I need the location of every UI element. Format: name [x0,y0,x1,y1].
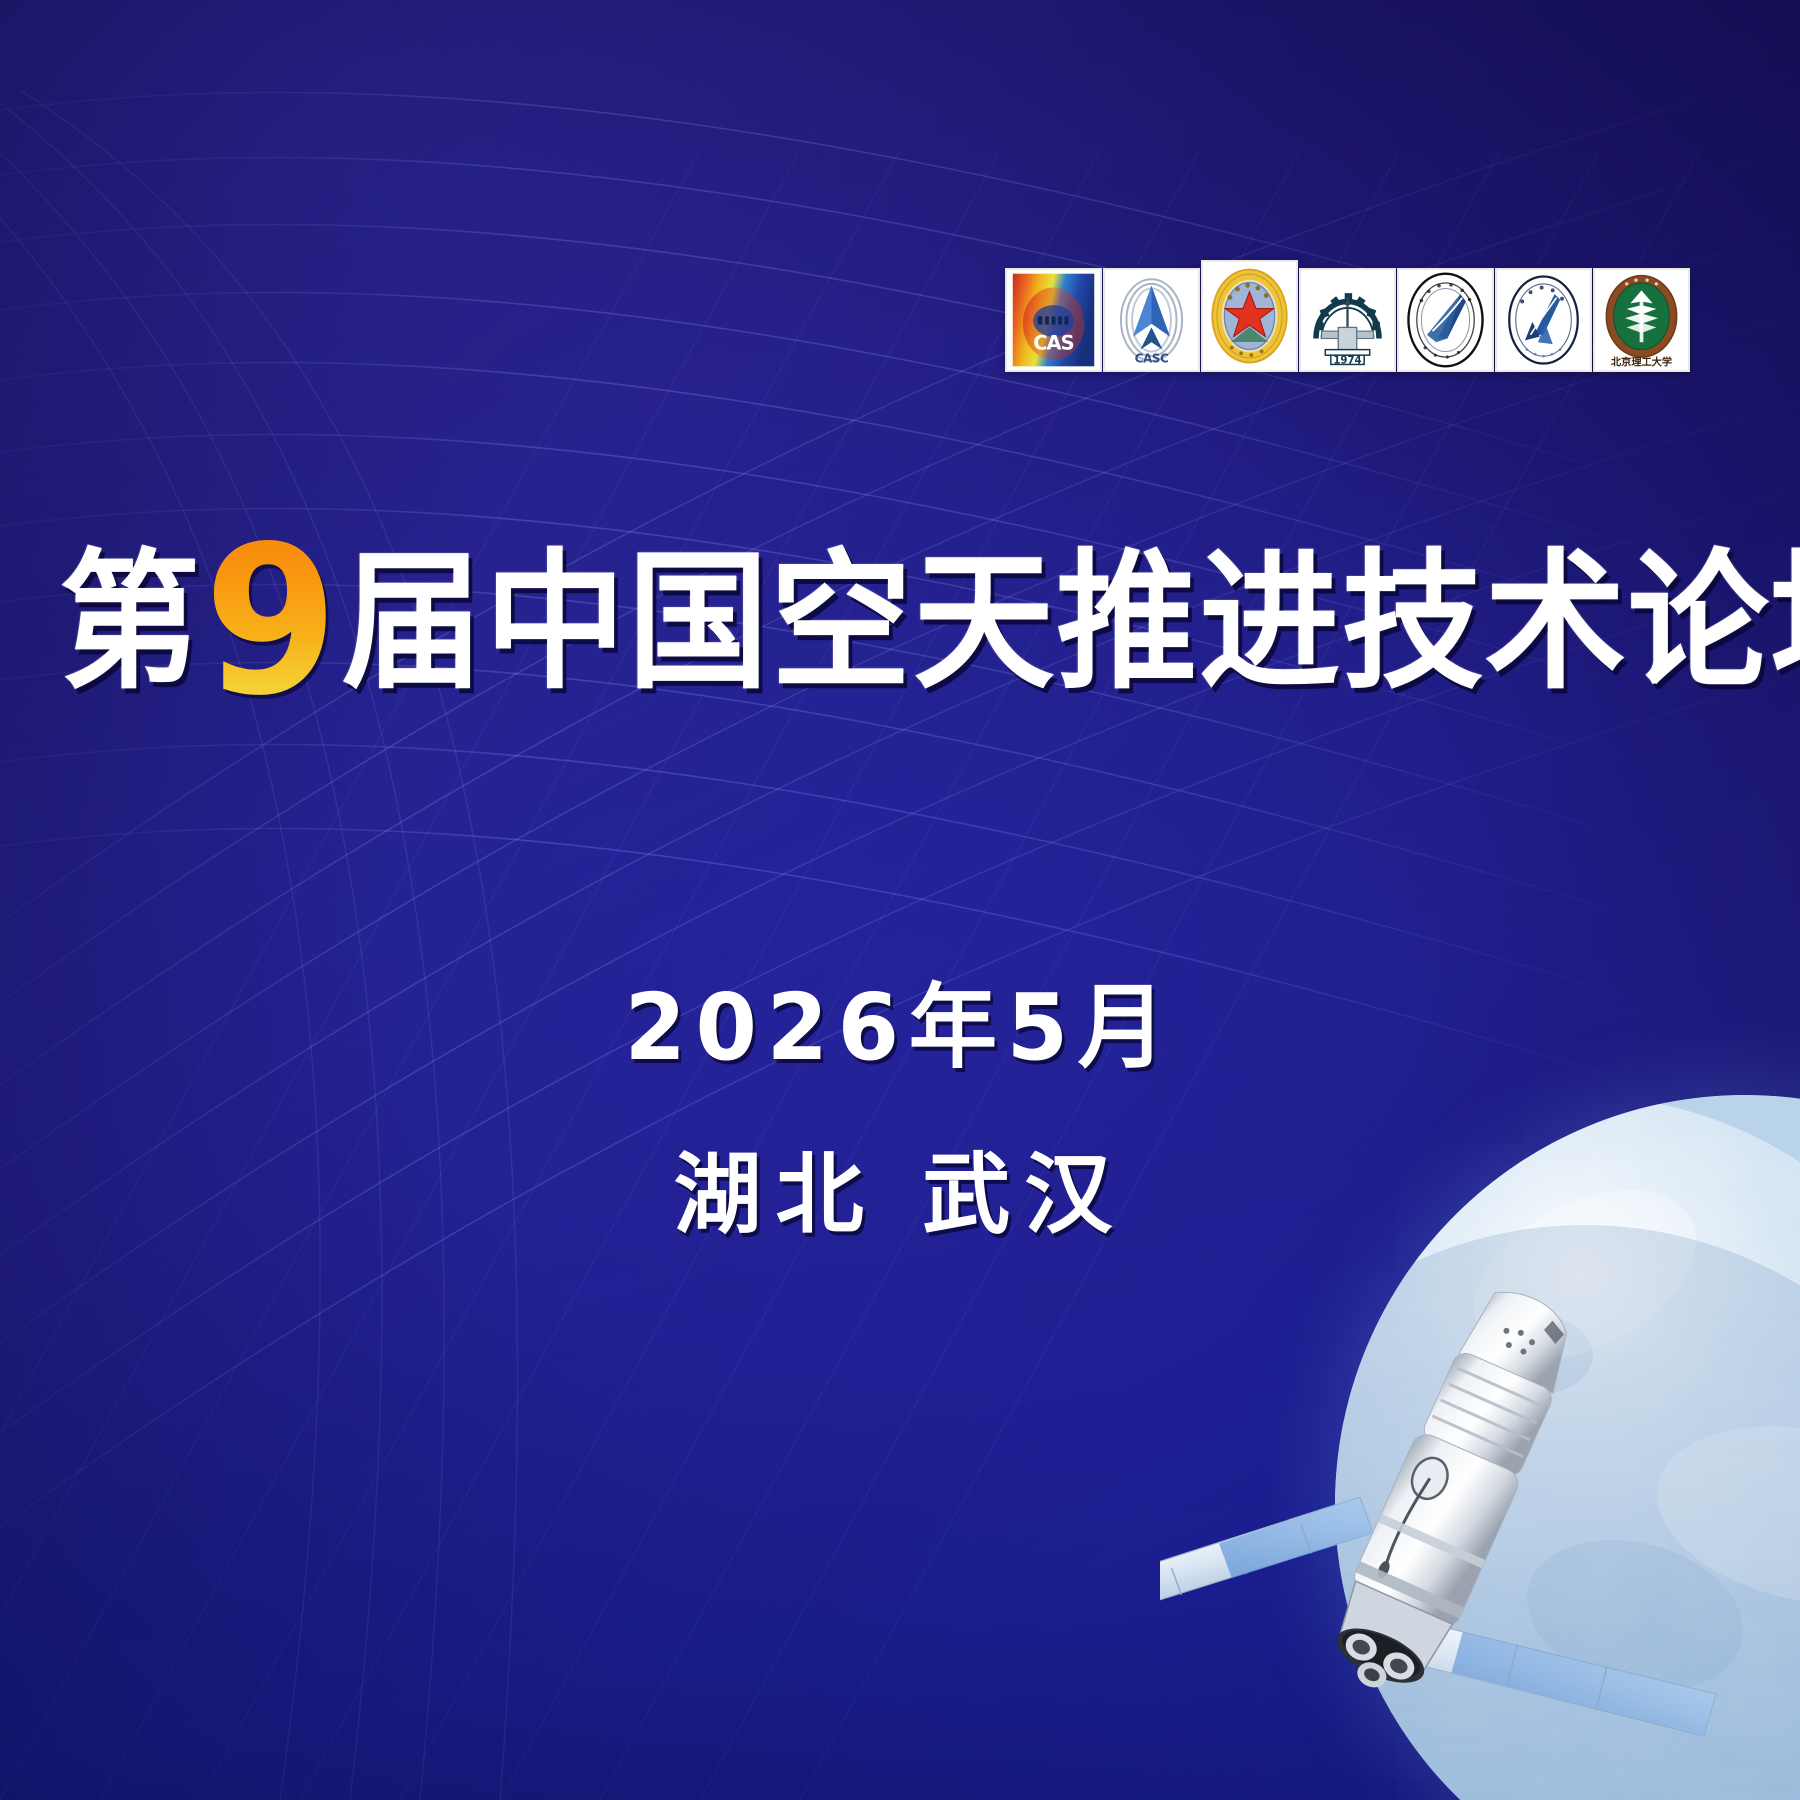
svg-text:1974: 1974 [1333,356,1361,367]
logo-bit-university[interactable]: 北京理工大学 [1593,268,1690,372]
spacecraft-graphic [1160,1230,1720,1790]
svg-text:CASC: CASC [1135,352,1169,366]
title-prefix: 第 [59,536,202,710]
event-meta-block: 2026年5月 湖北 武汉 [0,980,1800,1241]
event-location: 湖北 武汉 [674,1149,1127,1241]
title-block: 第9届中国空天推进技术论坛 [0,520,1800,725]
event-date: 2026年5月 [624,980,1175,1077]
edition-number: 9 [202,503,342,741]
logo-aerospace-academy[interactable] [1397,268,1494,372]
logo-propulsion-academy[interactable] [1495,268,1592,372]
event-date-row: 2026年5月 [0,980,1800,1077]
logo-pla-star-emblem[interactable] [1201,260,1298,372]
logo-casc-arrow[interactable]: CASC [1103,268,1200,372]
logo-gear-institute[interactable]: 1974 [1299,268,1396,372]
logo-bit-caption: 北京理工大学 [1611,355,1672,368]
logo-cas-rainbow[interactable]: CAS [1005,268,1102,372]
page-title: 第9届中国空天推进技术论坛 [59,520,1800,725]
organizer-logo-strip: CAS CASC [1005,268,1691,378]
solar-panel-left [1160,1496,1377,1614]
svg-text:CAS: CAS [1033,332,1074,355]
title-suffix: 届中国空天推进技术论坛 [342,536,1800,710]
conference-poster: CAS CASC [0,0,1800,1800]
event-location-row: 湖北 武汉 [0,1077,1800,1241]
